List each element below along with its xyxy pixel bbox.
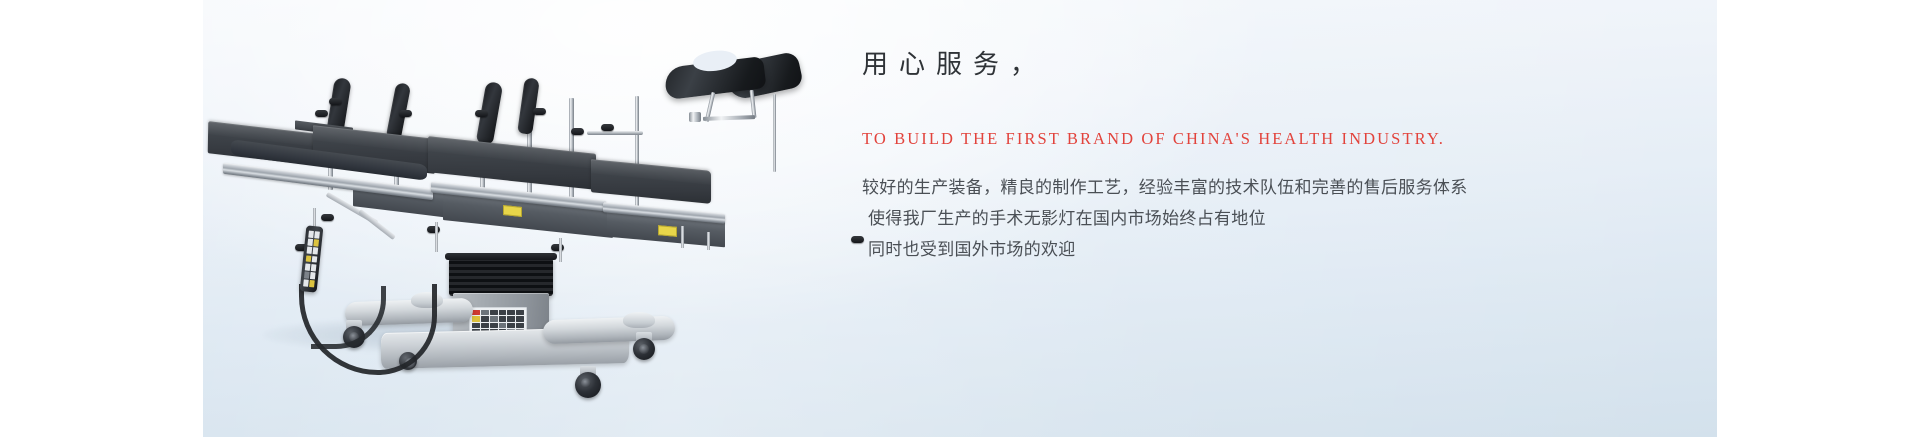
clamp-knob [427, 226, 440, 233]
operating-table-photo [203, 0, 863, 437]
column-bellows [449, 258, 553, 296]
stirrup-arm [773, 94, 776, 172]
base-arm [543, 316, 676, 345]
body-line-3: 同时也受到国外市场的欢迎 [862, 234, 1652, 265]
warning-label [503, 205, 522, 217]
castor-wheel [575, 372, 601, 398]
clamp-knob [315, 110, 328, 117]
clamp-knob [571, 128, 584, 135]
chrome-rod [435, 222, 438, 252]
clamp-knob [475, 110, 488, 117]
banner-copy: 用心服务， TO BUILD THE FIRST BRAND OF CHINA'… [862, 44, 1652, 265]
banner-stage: 用心服务， TO BUILD THE FIRST BRAND OF CHINA'… [0, 0, 1920, 437]
body-line-2: 使得我厂生产的手术无影灯在国内市场始终占有地位 [862, 203, 1652, 234]
stirrup-clamp [689, 112, 701, 122]
hand-control-pendant[interactable] [300, 225, 324, 292]
cross-bar [587, 131, 643, 135]
clamp-knob [399, 110, 412, 117]
clamp-knob [321, 214, 334, 221]
banner-body-text: 较好的生产装备，精良的制作工艺，经验丰富的技术队伍和完善的售后服务体系 使得我厂… [862, 172, 1652, 265]
support-strut [358, 209, 396, 240]
support-post [635, 96, 639, 216]
banner-headline: 用心服务， [862, 44, 1652, 84]
hero-banner: 用心服务， TO BUILD THE FIRST BRAND OF CHINA'… [203, 0, 1717, 437]
chrome-rod [707, 232, 710, 250]
clamp-knob [551, 244, 564, 251]
clamp-knob [329, 98, 342, 105]
chrome-rod [559, 238, 562, 262]
castor-wheel [633, 338, 655, 360]
base-hump [623, 312, 655, 328]
banner-tagline-english: TO BUILD THE FIRST BRAND OF CHINA'S HEAL… [862, 128, 1652, 150]
table-pad-leg [591, 159, 711, 204]
lateral-support-pad [517, 77, 540, 135]
clamp-knob [533, 108, 546, 115]
clamp-knob [601, 124, 614, 131]
warning-label [658, 225, 677, 237]
stirrup-arm [703, 115, 755, 121]
body-line-1: 较好的生产装备，精良的制作工艺，经验丰富的技术队伍和完善的售后服务体系 [862, 172, 1652, 203]
chrome-rod [681, 226, 684, 248]
